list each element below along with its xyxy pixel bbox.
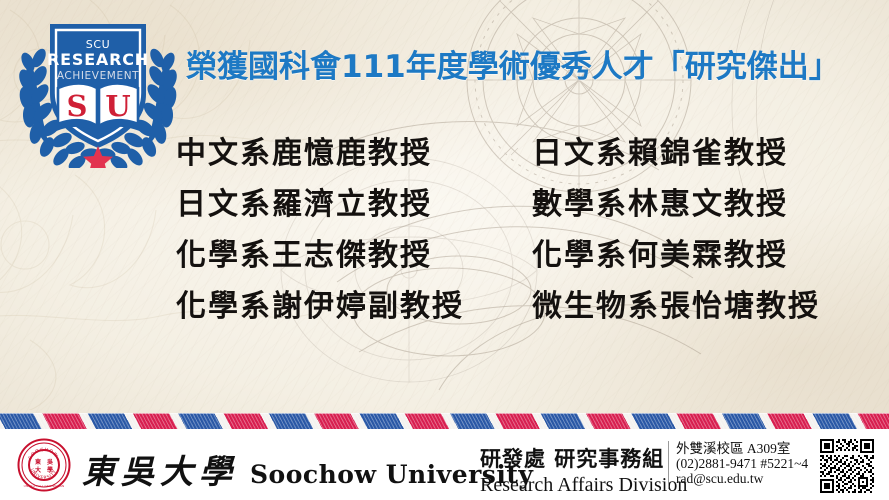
svg-text:SOOCHOW: SOOCHOW (27, 447, 59, 461)
scu-research-achievement-emblem: SCU RESEARCH ACHIEVEMENT S U (14, 8, 182, 168)
poster-root: SCU RESEARCH ACHIEVEMENT S U 榮獲國科會111年度學… (0, 0, 889, 500)
contact-email[interactable]: rad@scu.edu.tw (676, 471, 808, 486)
emblem-line2: RESEARCH (47, 50, 149, 69)
department-block: 研發處 研究事務組 Research Affairs Division (480, 443, 687, 497)
honoree-row: 化學系謝伊婷副教授 微生物系張怡塘教授 (176, 281, 866, 332)
honoree-name: 日文系羅濟立教授 (176, 179, 532, 223)
stripe-highlight (0, 413, 889, 414)
contact-phone: (02)2881-9471 #5221~4 (676, 456, 808, 471)
contact-block: 外雙溪校區 A309室 (02)2881-9471 #5221~4 rad@sc… (676, 441, 808, 486)
footer-bar: SOOCHOW UNIVERSITY 東吳 大學 UNTO A FULL GRO… (0, 429, 889, 500)
contact-campus: 外雙溪校區 A309室 (676, 441, 808, 456)
department-name-en: Research Affairs Division (480, 474, 687, 497)
open-book-icon: S U (54, 84, 142, 134)
honoree-row: 化學系王志傑教授 化學系何美霖教授 (176, 230, 866, 281)
honoree-row: 中文系鹿憶鹿教授 日文系賴錦雀教授 (176, 128, 866, 179)
svg-text:大: 大 (35, 466, 41, 474)
honoree-name: 中文系鹿憶鹿教授 (176, 128, 532, 172)
stripe-weave-texture (0, 413, 889, 429)
honoree-name: 化學系何美霖教授 (532, 230, 862, 274)
emblem-book-letter-right: U (105, 89, 130, 123)
honoree-name: 化學系王志傑教授 (176, 230, 532, 274)
honoree-row: 日文系羅濟立教授 數學系林惠文教授 (176, 179, 866, 230)
seal-text-bottom: UNIVERSITY (29, 468, 59, 481)
university-wordmark: 東吳大學 Soochow University (82, 445, 533, 493)
emblem-book-letter-left: S (67, 89, 88, 123)
svg-text:UNIVERSITY: UNIVERSITY (29, 468, 59, 481)
svg-text:東: 東 (35, 458, 41, 466)
parchment-background: SCU RESEARCH ACHIEVEMENT S U 榮獲國科會111年度學… (0, 0, 889, 414)
page-title: 榮獲國科會111年度學術優秀人才「研究傑出」 (186, 41, 840, 86)
qr-code[interactable] (818, 437, 876, 495)
seal-text-top: SOOCHOW (27, 447, 59, 461)
svg-text:吳: 吳 (46, 458, 53, 466)
honoree-name: 化學系謝伊婷副教授 (176, 281, 532, 325)
airmail-stripe-divider (0, 413, 889, 429)
soochow-university-seal-icon: SOOCHOW UNIVERSITY 東吳 大學 UNTO A FULL GRO… (12, 437, 76, 493)
honoree-list: 中文系鹿憶鹿教授 日文系賴錦雀教授 日文系羅濟立教授 數學系林惠文教授 化學系王… (176, 128, 866, 332)
honoree-name: 日文系賴錦雀教授 (532, 128, 862, 172)
honoree-name: 微生物系張怡塘教授 (532, 281, 862, 325)
department-name-cn: 研發處 研究事務組 (480, 443, 687, 473)
svg-text:學: 學 (47, 466, 53, 474)
honoree-name: 數學系林惠文教授 (532, 179, 862, 223)
svg-text:UNTO A FULL GROWN MAN: UNTO A FULL GROWN MAN (24, 484, 65, 488)
university-name-cn: 東吳大學 (82, 445, 238, 493)
emblem-line3: ACHIEVEMENT (57, 70, 139, 82)
footer-divider (668, 441, 669, 489)
